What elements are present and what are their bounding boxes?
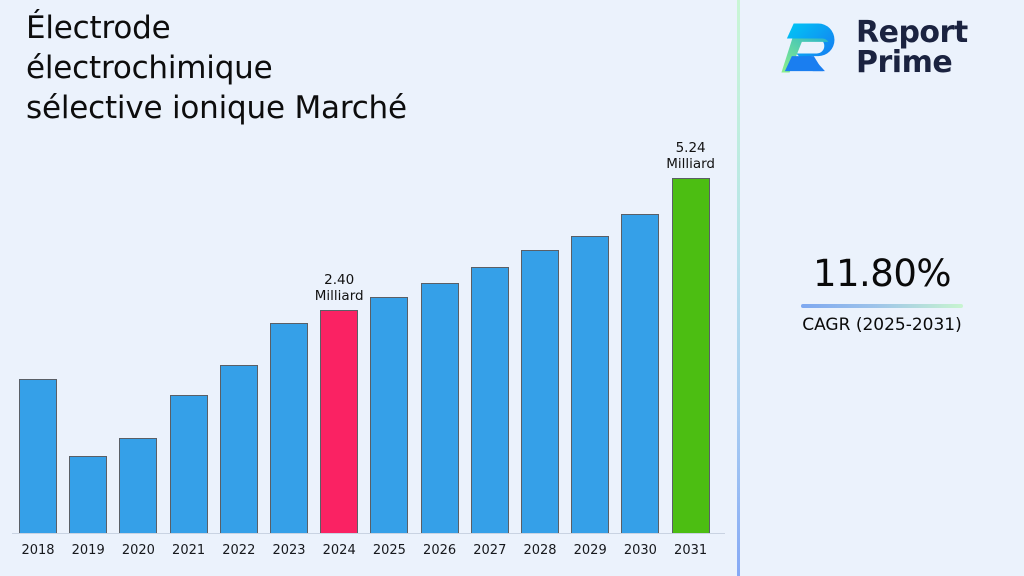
- bar-2028: [521, 250, 559, 533]
- x-axis-tick-2031: 2031: [661, 543, 721, 558]
- bar-2022: [220, 365, 258, 533]
- bar-2025: [370, 297, 408, 533]
- bar-2031: [672, 178, 710, 533]
- bar-2023: [270, 323, 308, 533]
- report-prime-r-logo-icon: [776, 14, 844, 82]
- bar-2018: [19, 379, 57, 533]
- brand-logo[interactable]: Report Prime: [776, 14, 968, 82]
- cagr-divider-rule: [801, 304, 963, 308]
- bar-value-label-2031: 5.24 Milliard: [646, 140, 736, 172]
- x-axis-line: [12, 533, 725, 534]
- cagr-block: 11.80% CAGR (2025-2031): [740, 252, 1024, 336]
- bar-chart-plot: 2018201920202021202220232.40 Milliard202…: [0, 0, 738, 576]
- bar-2021: [170, 395, 208, 533]
- brand-panel: Report Prime 11.80% CAGR (2025-2031): [740, 0, 1024, 576]
- brand-name-line2: Prime: [856, 48, 968, 78]
- bar-2020: [119, 438, 157, 533]
- chart-infographic: Électrode électrochimique sélective ioni…: [0, 0, 1024, 576]
- bar-2027: [471, 267, 509, 533]
- brand-wordmark: Report Prime: [856, 18, 968, 78]
- bar-2019: [69, 456, 107, 533]
- bar-2024: [320, 310, 358, 533]
- bar-2029: [571, 236, 609, 533]
- cagr-value: 11.80%: [740, 252, 1024, 296]
- bar-2030: [621, 214, 659, 533]
- chart-panel: Électrode électrochimique sélective ioni…: [0, 0, 738, 576]
- bar-2026: [421, 283, 459, 533]
- cagr-caption: CAGR (2025-2031): [740, 314, 1024, 336]
